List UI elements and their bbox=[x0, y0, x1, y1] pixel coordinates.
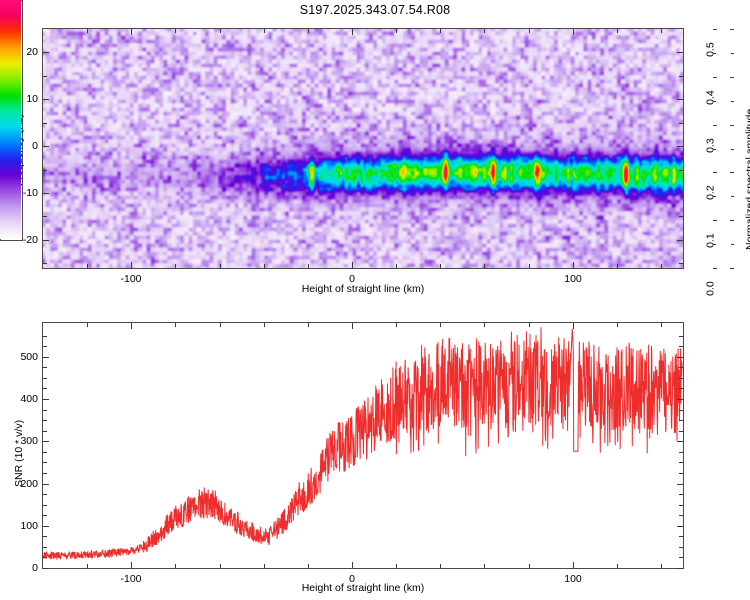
spectrogram-xtick-major-top bbox=[352, 29, 353, 35]
snr-xtick-minor bbox=[440, 564, 441, 568]
snr-ytick-minor-right bbox=[679, 367, 683, 368]
snr-xtick-minor-top bbox=[440, 323, 441, 327]
spectrogram-ytick-label: 10 bbox=[18, 93, 38, 105]
spectrogram-ytick-minor bbox=[43, 170, 47, 171]
spectrogram-xtick-major bbox=[573, 262, 574, 268]
colorbar-tick bbox=[713, 172, 717, 173]
snr-ytick-minor bbox=[43, 515, 47, 516]
spectrogram-image bbox=[43, 29, 683, 268]
snr-trace-svg bbox=[43, 323, 683, 568]
snr-ytick-major bbox=[43, 526, 49, 527]
snr-xtick-minor bbox=[396, 564, 397, 568]
snr-ytick-minor bbox=[43, 336, 47, 337]
spectrogram-xtick-minor bbox=[175, 264, 176, 268]
spectrogram-xtick-minor-top bbox=[484, 29, 485, 33]
spectrogram-xtick-minor-top bbox=[175, 29, 176, 33]
spectrogram-xtick-minor-top bbox=[220, 29, 221, 33]
snr-ytick-major bbox=[43, 399, 49, 400]
snr-ytick-minor-right bbox=[679, 388, 683, 389]
snr-ytick-minor bbox=[43, 505, 47, 506]
snr-ytick-minor-right bbox=[679, 536, 683, 537]
spectrogram-ytick-minor-right bbox=[679, 76, 683, 77]
snr-xtick-minor-top bbox=[617, 323, 618, 327]
snr-ytick-minor bbox=[43, 473, 47, 474]
spectrogram-ytick-major-right bbox=[677, 146, 683, 147]
snr-ytick-minor bbox=[43, 462, 47, 463]
snr-xtick-minor-top bbox=[484, 323, 485, 327]
spectrogram-xtick-minor-top bbox=[308, 29, 309, 33]
snr-ytick-minor bbox=[43, 410, 47, 411]
figure-root: S197.2025.343.07.54.R08 -1000100-20-1001… bbox=[0, 0, 750, 600]
snr-xtick-major bbox=[131, 562, 132, 568]
spectrogram-ytick-minor bbox=[43, 263, 47, 264]
colorbar-tick-right bbox=[730, 172, 734, 173]
snr-ytick-major bbox=[43, 568, 49, 569]
snr-ytick-major-right bbox=[677, 484, 683, 485]
snr-ytick-minor-right bbox=[679, 557, 683, 558]
snr-ytick-minor-right bbox=[679, 336, 683, 337]
snr-ytick-minor bbox=[43, 388, 47, 389]
spectrogram-ytick-minor bbox=[43, 216, 47, 217]
colorbar-tick bbox=[713, 77, 717, 78]
spectrogram-ytick-minor-right bbox=[679, 216, 683, 217]
snr-ytick-label: 100 bbox=[16, 520, 38, 532]
snr-ytick-minor-right bbox=[679, 547, 683, 548]
snr-xaxis-title: Height of straight line (km) bbox=[302, 582, 425, 594]
snr-ytick-major-right bbox=[677, 441, 683, 442]
colorbar-tick-right bbox=[730, 77, 734, 78]
snr-xtick-minor bbox=[308, 564, 309, 568]
spectrogram-ytick-major bbox=[43, 99, 49, 100]
snr-xtick-minor bbox=[661, 564, 662, 568]
spectrogram-xtick-minor bbox=[440, 264, 441, 268]
colorbar-tick-minor-right bbox=[731, 101, 734, 102]
snr-ytick-major-right bbox=[677, 357, 683, 358]
spectrogram-ytick-minor-right bbox=[679, 170, 683, 171]
snr-ytick-minor bbox=[43, 420, 47, 421]
spectrogram-xtick-minor bbox=[264, 264, 265, 268]
spectrogram-xtick-minor bbox=[87, 264, 88, 268]
snr-ytick-major bbox=[43, 484, 49, 485]
colorbar-tick-minor-right bbox=[731, 196, 734, 197]
spectrogram-xtick-major bbox=[352, 262, 353, 268]
colorbar-tick-minor-right bbox=[731, 53, 734, 54]
spectrogram-xtick-minor bbox=[396, 264, 397, 268]
spectrogram-ytick-label: -20 bbox=[18, 234, 38, 246]
snr-xtick-major-top bbox=[352, 323, 353, 329]
spectrogram-xtick-major-top bbox=[573, 29, 574, 35]
snr-ytick-major bbox=[43, 441, 49, 442]
snr-ytick-major-right bbox=[677, 526, 683, 527]
colorbar-title: Normalized spectral amplitude bbox=[744, 109, 750, 250]
snr-ytick-minor-right bbox=[679, 462, 683, 463]
snr-xtick-major bbox=[352, 562, 353, 568]
snr-xtick-minor bbox=[484, 564, 485, 568]
snr-xtick-minor-top bbox=[308, 323, 309, 327]
snr-xtick-minor bbox=[264, 564, 265, 568]
snr-xtick-minor bbox=[529, 564, 530, 568]
spectrogram-ytick-major bbox=[43, 52, 49, 53]
figure-title: S197.2025.343.07.54.R08 bbox=[0, 3, 750, 17]
spectrogram-xtick-minor bbox=[220, 264, 221, 268]
spectrogram-ytick-major-right bbox=[677, 193, 683, 194]
snr-xtick-major-top bbox=[131, 323, 132, 329]
colorbar-tick-right bbox=[730, 125, 734, 126]
snr-ytick-minor-right bbox=[679, 346, 683, 347]
snr-xtick-minor bbox=[87, 564, 88, 568]
snr-xtick-minor bbox=[617, 564, 618, 568]
spectrogram-xtick-label: -100 bbox=[120, 273, 141, 285]
colorbar-tick-label: 0.1 bbox=[705, 233, 717, 248]
colorbar-tick bbox=[713, 29, 717, 30]
snr-ytick-label: 400 bbox=[16, 393, 38, 405]
snr-xtick-minor-top bbox=[529, 323, 530, 327]
spectrogram-xtick-minor-top bbox=[264, 29, 265, 33]
snr-ytick-minor-right bbox=[679, 505, 683, 506]
snr-xtick-minor bbox=[175, 564, 176, 568]
spectrogram-xtick-minor bbox=[617, 264, 618, 268]
snr-ytick-minor bbox=[43, 452, 47, 453]
snr-ytick-minor-right bbox=[679, 378, 683, 379]
snr-ytick-major bbox=[43, 357, 49, 358]
spectrogram-xtick-minor-top bbox=[87, 29, 88, 33]
spectrogram-xtick-minor bbox=[529, 264, 530, 268]
snr-yaxis-title: SNR (10 * v/v) bbox=[13, 420, 25, 487]
spectrogram-ytick-major bbox=[43, 146, 49, 147]
snr-ytick-minor-right bbox=[679, 452, 683, 453]
spectrogram-xtick-minor-top bbox=[396, 29, 397, 33]
spectrogram-ytick-major-right bbox=[677, 52, 683, 53]
snr-xtick-minor-top bbox=[396, 323, 397, 327]
colorbar-tick-label: 0.4 bbox=[705, 90, 717, 105]
snr-ytick-minor-right bbox=[679, 494, 683, 495]
snr-ytick-minor bbox=[43, 431, 47, 432]
snr-ytick-minor bbox=[43, 536, 47, 537]
colorbar-tick-label: 0.5 bbox=[705, 42, 717, 57]
colorbar-tick-right bbox=[730, 220, 734, 221]
snr-ytick-major-right bbox=[677, 399, 683, 400]
colorbar bbox=[0, 0, 23, 241]
snr-ytick-minor-right bbox=[679, 473, 683, 474]
snr-ytick-minor bbox=[43, 494, 47, 495]
spectrogram-xtick-major-top bbox=[131, 29, 132, 35]
snr-xtick-major bbox=[573, 562, 574, 568]
snr-xtick-major-top bbox=[573, 323, 574, 329]
spectrogram-xtick-minor bbox=[661, 264, 662, 268]
spectrogram-ytick-major bbox=[43, 240, 49, 241]
colorbar-tick-label: 0.0 bbox=[705, 281, 717, 296]
colorbar-tick-right bbox=[730, 268, 734, 269]
spectrogram-xtick-minor-top bbox=[661, 29, 662, 33]
spectrogram-ytick-label: 20 bbox=[18, 46, 38, 58]
snr-ytick-label: 0 bbox=[16, 562, 38, 574]
spectrogram-xtick-minor bbox=[484, 264, 485, 268]
snr-xtick-minor-top bbox=[264, 323, 265, 327]
spectrogram-plot-area bbox=[42, 28, 684, 269]
snr-ytick-minor bbox=[43, 367, 47, 368]
snr-line bbox=[43, 327, 682, 559]
colorbar-tick bbox=[713, 220, 717, 221]
snr-ytick-minor bbox=[43, 557, 47, 558]
snr-xtick-label: -100 bbox=[120, 573, 141, 585]
colorbar-tick-minor-right bbox=[731, 244, 734, 245]
colorbar-tick-right bbox=[730, 29, 734, 30]
spectrogram-xtick-minor-top bbox=[440, 29, 441, 33]
snr-xtick-minor-top bbox=[87, 323, 88, 327]
spectrogram-ytick-minor bbox=[43, 76, 47, 77]
spectrogram-ytick-minor-right bbox=[679, 263, 683, 264]
colorbar-tick-label: 0.3 bbox=[705, 138, 717, 153]
snr-plot-area bbox=[42, 322, 684, 569]
snr-xtick-minor-top bbox=[661, 323, 662, 327]
spectrogram-xtick-label: 100 bbox=[564, 273, 582, 285]
snr-ytick-minor-right bbox=[679, 420, 683, 421]
spectrogram-ytick-major bbox=[43, 193, 49, 194]
spectrogram-xtick-minor-top bbox=[529, 29, 530, 33]
spectrogram-ytick-major-right bbox=[677, 99, 683, 100]
snr-xtick-label: 100 bbox=[564, 573, 582, 585]
snr-ytick-major-right bbox=[677, 568, 683, 569]
colorbar-tick-label: 0.2 bbox=[705, 185, 717, 200]
spectrogram-ytick-major-right bbox=[677, 240, 683, 241]
spectrogram-xtick-minor bbox=[308, 264, 309, 268]
spectrogram-xaxis-title: Height of straight line (km) bbox=[302, 283, 425, 295]
colorbar-tick-minor-right bbox=[731, 149, 734, 150]
colorbar-tick bbox=[713, 268, 717, 269]
spectrogram-ytick-label: -10 bbox=[18, 187, 38, 199]
snr-ytick-minor bbox=[43, 378, 47, 379]
snr-xtick-minor-top bbox=[175, 323, 176, 327]
spectrogram-xtick-minor-top bbox=[617, 29, 618, 33]
spectrogram-ytick-minor-right bbox=[679, 123, 683, 124]
snr-xtick-minor-top bbox=[220, 323, 221, 327]
spectrogram-xtick-major bbox=[131, 262, 132, 268]
colorbar-gradient bbox=[0, 0, 21, 239]
colorbar-tick bbox=[713, 125, 717, 126]
snr-xtick-minor bbox=[220, 564, 221, 568]
snr-ytick-minor bbox=[43, 547, 47, 548]
spectrogram-ytick-minor bbox=[43, 123, 47, 124]
snr-ytick-minor bbox=[43, 346, 47, 347]
snr-ytick-minor-right bbox=[679, 410, 683, 411]
snr-ytick-minor-right bbox=[679, 431, 683, 432]
snr-ytick-minor-right bbox=[679, 515, 683, 516]
snr-ytick-label: 500 bbox=[16, 351, 38, 363]
